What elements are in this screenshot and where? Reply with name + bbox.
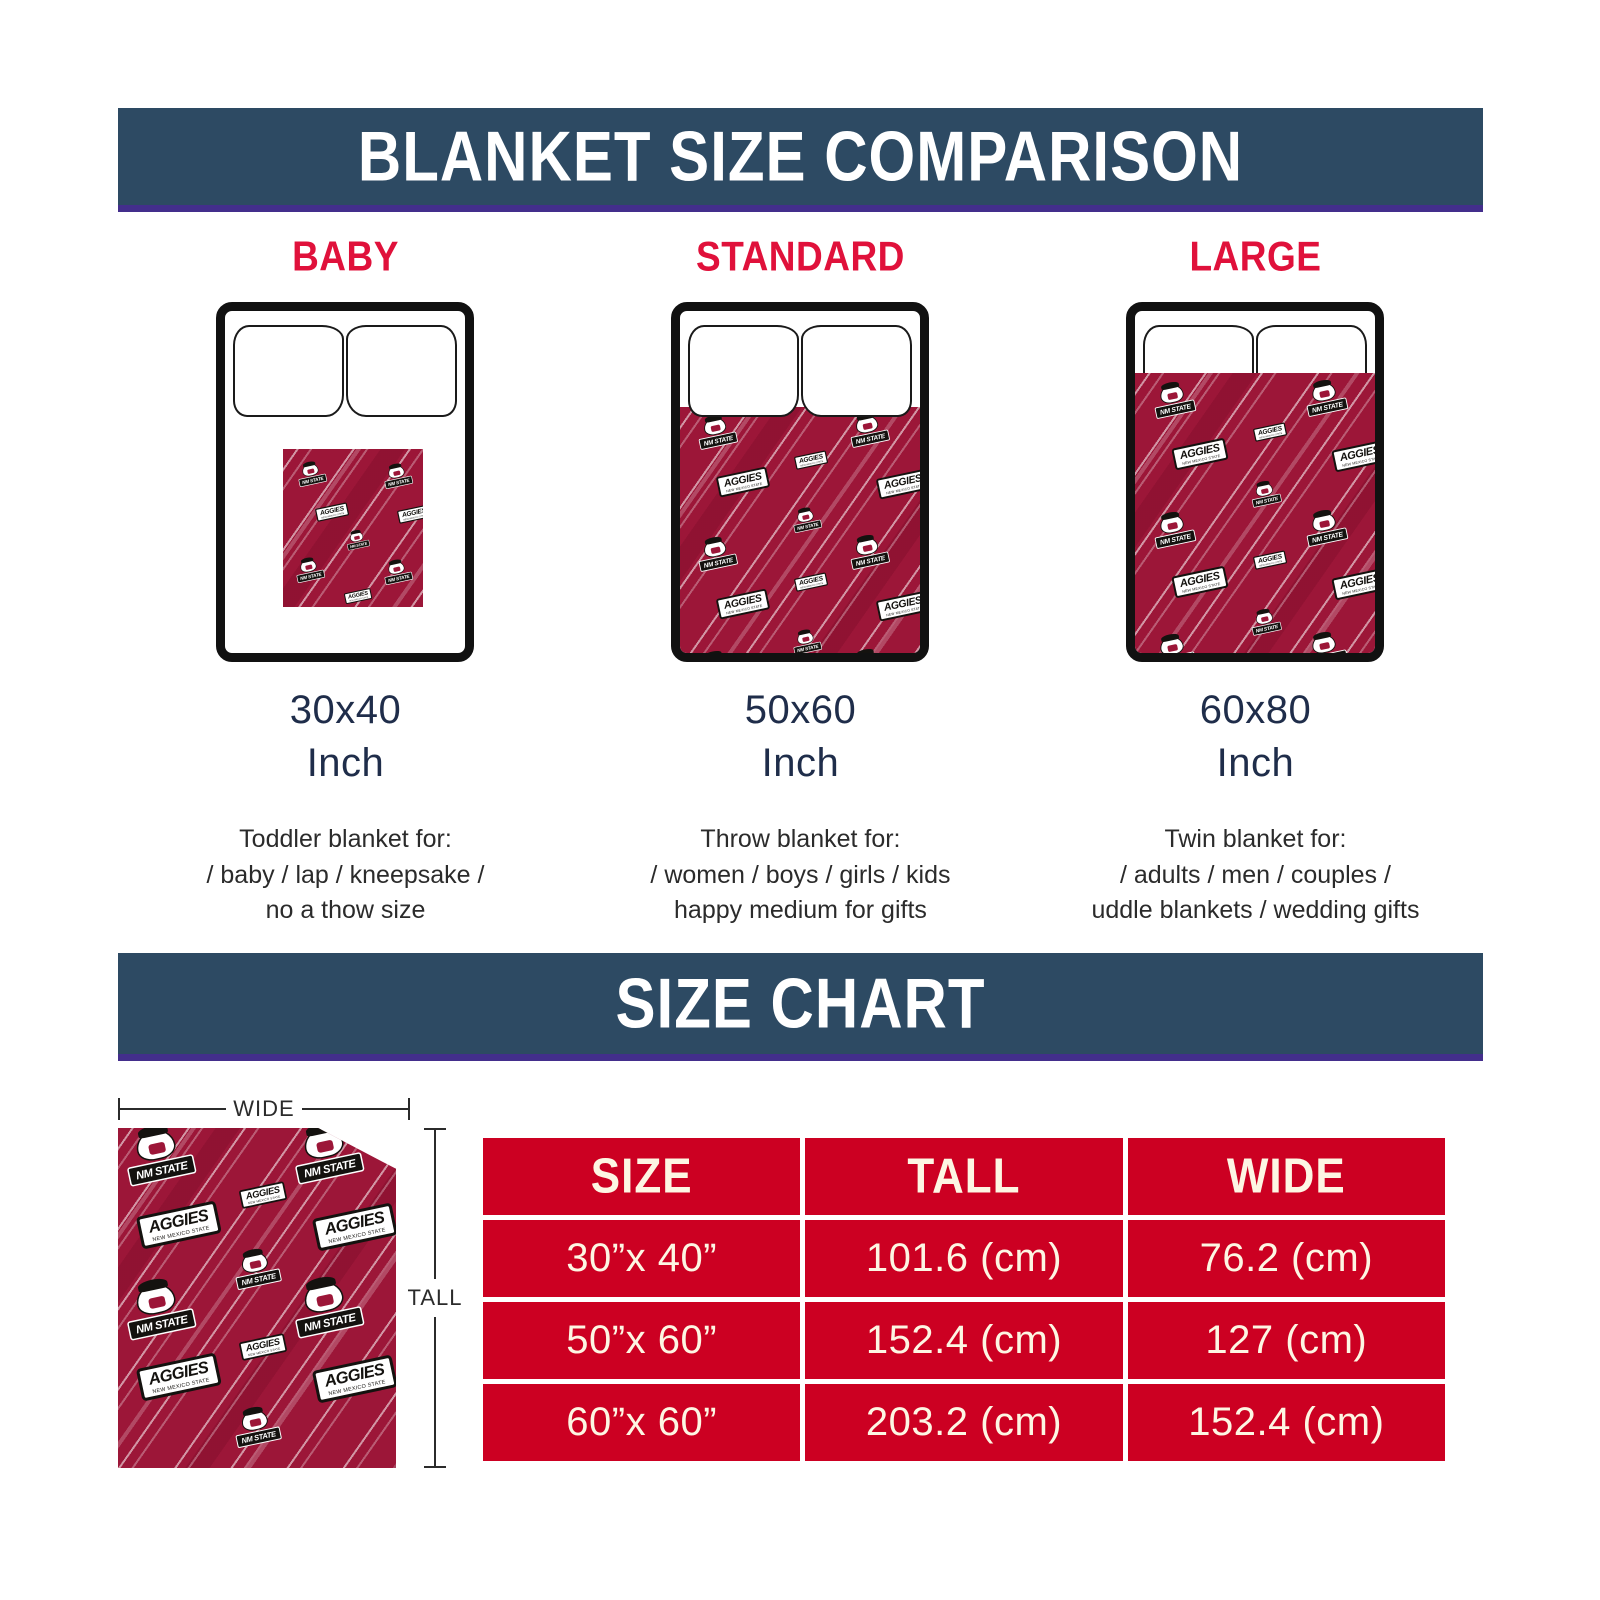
mascot-icon	[240, 1250, 270, 1275]
pillow-right-icon	[346, 325, 457, 417]
dimension-line-icon	[302, 1108, 408, 1110]
pattern-logo-layer: NM STATE NM STATE AGGIES NEW MEXICO STAT…	[680, 407, 920, 653]
column-label-large: LARGE	[1189, 233, 1321, 280]
nm-state-logo-icon: NM STATE	[231, 1248, 282, 1291]
pillows-standard	[688, 325, 912, 417]
description-large: Twin blanket for: / adults / men / coupl…	[1091, 822, 1419, 929]
mascot-icon	[855, 650, 880, 653]
nm-state-logo-icon: NM STATE	[791, 507, 823, 533]
aggies-logo-icon: AGGIES NEW MEXICO STATE	[716, 466, 771, 497]
comparison-column-baby: BABY NM STATE NM STATE AGGIES	[118, 236, 573, 929]
aggies-logo-icon: AGGIES NEW MEXICO STATE	[1172, 566, 1230, 599]
description-standard: Throw blanket for: / women / boys / girl…	[650, 822, 950, 929]
mascot-icon	[388, 560, 406, 575]
nm-state-logo-icon: NM STATE	[1249, 480, 1282, 508]
dimension-line-icon	[120, 1108, 226, 1110]
nm-state-logo-icon: NM STATE	[695, 414, 738, 450]
mascot-icon	[703, 538, 728, 559]
size-unit-standard: Inch	[762, 741, 840, 786]
desc-line: Twin blanket for:	[1091, 822, 1419, 858]
comparison-column-standard: STANDARD NM STATE NM STATE AGG	[573, 236, 1028, 929]
column-label-baby: BABY	[292, 233, 399, 280]
table-row: 30”x 40” 101.6 (cm) 76.2 (cm)	[483, 1220, 1445, 1297]
aggies-logo-icon: AGGIES NEW MEXICO STATE	[1253, 422, 1288, 442]
mascot-icon	[302, 462, 320, 477]
size-value-baby: 30x40	[290, 688, 401, 733]
nm-state-logo-icon: NM STATE	[294, 557, 326, 583]
aggies-logo-icon: AGGIES NEW MEXICO STATE	[876, 468, 920, 499]
aggies-logo-icon: AGGIES NEW MEXICO STATE	[239, 1181, 288, 1209]
aggies-logo-icon: AGGIES NEW MEXICO STATE	[312, 1354, 396, 1404]
mascot-icon	[855, 536, 880, 557]
cell-size: 50”x 60”	[483, 1302, 800, 1379]
desc-line: happy medium for gifts	[650, 893, 950, 929]
blanket-swatch-baby: NM STATE NM STATE AGGIES NEW MEXICO STAT…	[283, 449, 423, 607]
mascot-icon	[1159, 513, 1186, 535]
desc-line: Throw blanket for:	[650, 822, 950, 858]
mascot-icon	[1255, 609, 1274, 625]
mascot-icon	[302, 1278, 346, 1315]
desc-line: uddle blankets / wedding gifts	[1091, 893, 1419, 929]
mascot-icon	[1311, 381, 1338, 403]
nm-state-logo-icon: NM STATE	[345, 529, 370, 550]
nm-state-logo-icon: NM STATE	[1303, 631, 1349, 653]
nm-state-logo-icon: NM STATE	[120, 1128, 196, 1187]
cell-tall: 152.4 (cm)	[805, 1302, 1122, 1379]
size-unit-large: Inch	[1217, 741, 1295, 786]
mascot-icon	[240, 1408, 270, 1433]
nm-state-logo-icon: NM STATE	[1151, 511, 1197, 549]
aggies-logo-icon: AGGIES NEW MEXICO STATE	[344, 588, 373, 605]
nm-state-logo-icon: NM STATE	[1151, 381, 1197, 419]
cell-size: 30”x 40”	[483, 1220, 800, 1297]
mascot-icon	[1311, 633, 1338, 653]
size-comparison-columns: BABY NM STATE NM STATE AGGIES	[118, 236, 1483, 929]
nm-state-logo-icon: NM STATE	[382, 463, 414, 489]
size-unit-baby: Inch	[307, 741, 385, 786]
bed-illustration-baby: NM STATE NM STATE AGGIES NEW MEXICO STAT…	[216, 302, 474, 662]
nm-state-logo-icon: NM STATE	[296, 461, 328, 487]
aggies-logo-icon: AGGIES NEW MEXICO STATE	[794, 572, 829, 592]
pillows-baby	[233, 325, 457, 417]
table-row: 60”x 60” 203.2 (cm) 152.4 (cm)	[483, 1384, 1445, 1461]
nm-state-logo-icon: NM STATE	[1303, 509, 1349, 547]
aggies-logo-icon: AGGIES NEW MEXICO STATE	[716, 588, 771, 619]
dimension-line-icon	[434, 1130, 436, 1279]
dimension-line-icon	[434, 1317, 436, 1466]
nm-state-logo-icon: NM STATE	[695, 536, 738, 572]
page-title: BLANKET SIZE COMPARISON	[358, 116, 1243, 197]
blanket-swatch-standard: NM STATE NM STATE AGGIES NEW MEXICO STAT…	[680, 407, 920, 653]
table-row: 50”x 60” 152.4 (cm) 127 (cm)	[483, 1302, 1445, 1379]
mascot-icon	[703, 652, 728, 653]
size-value-standard: 50x60	[745, 688, 856, 733]
mascot-icon	[302, 1128, 346, 1161]
blanket-swatch-large: NM STATE NM STATE AGGIES NEW MEXICO STAT…	[1135, 373, 1375, 653]
aggies-logo-icon: AGGIES NEW MEXICO STATE	[876, 590, 920, 621]
aggies-logo-icon: AGGIES NEW MEXICO STATE	[1332, 440, 1376, 473]
mascot-icon	[1159, 383, 1186, 405]
blanket-dimension-diagram: WIDE NM STATE NM STATE AGGIES NEW MEXICO…	[118, 1092, 478, 1482]
nm-state-logo-icon: NM STATE	[791, 629, 823, 653]
pattern-logo-layer: NM STATE NM STATE AGGIES NEW MEXICO STAT…	[118, 1128, 396, 1468]
cell-wide: 152.4 (cm)	[1128, 1384, 1445, 1461]
size-chart-title: SIZE CHART	[616, 963, 986, 1044]
bed-illustration-standard: NM STATE NM STATE AGGIES NEW MEXICO STAT…	[671, 302, 929, 662]
cell-wide: 127 (cm)	[1128, 1302, 1445, 1379]
tall-label: TALL	[408, 1279, 463, 1317]
mascot-icon	[703, 416, 728, 437]
cell-tall: 203.2 (cm)	[805, 1384, 1122, 1461]
aggies-logo-icon: AGGIES NEW MEXICO STATE	[794, 450, 829, 470]
aggies-logo-icon: AGGIES NEW MEXICO STATE	[239, 1333, 288, 1361]
mascot-icon	[1159, 635, 1186, 653]
nm-state-logo-icon: NM STATE	[1303, 379, 1349, 417]
dimension-cap-icon	[408, 1098, 410, 1120]
desc-line: Toddler blanket for:	[207, 822, 485, 858]
wide-dimension-line: WIDE	[118, 1092, 410, 1126]
aggies-logo-icon: AGGIES NEW MEXICO STATE	[136, 1200, 223, 1250]
mascot-icon	[1311, 511, 1338, 533]
cell-tall: 101.6 (cm)	[805, 1220, 1122, 1297]
aggies-logo-icon: AGGIES NEW MEXICO STATE	[1172, 438, 1230, 471]
mascot-icon	[797, 508, 815, 523]
nm-state-logo-icon: NM STATE	[120, 1277, 196, 1341]
pillow-left-icon	[233, 325, 344, 417]
table-header-row: SIZE TALL WIDE	[483, 1138, 1445, 1215]
nm-state-logo-icon: NM STATE	[1249, 608, 1282, 636]
mascot-icon	[300, 558, 318, 573]
aggies-logo-icon: AGGIES NEW MEXICO STATE	[312, 1202, 396, 1252]
aggies-logo-icon: AGGIES NEW MEXICO STATE	[1253, 550, 1288, 570]
size-chart-section: WIDE NM STATE NM STATE AGGIES NEW MEXICO…	[0, 1092, 1600, 1492]
desc-line: / adults / men / couples /	[1091, 858, 1419, 894]
aggies-logo-icon: AGGIES NEW MEXICO STATE	[136, 1352, 223, 1402]
mascot-icon	[797, 630, 815, 645]
tall-dimension-line: TALL	[414, 1128, 456, 1468]
nm-state-logo-icon: NM STATE	[847, 648, 890, 653]
table-header-size: SIZE	[483, 1138, 800, 1215]
description-baby: Toddler blanket for: / baby / lap / knee…	[207, 822, 485, 929]
desc-line: / baby / lap / kneepsake /	[207, 858, 485, 894]
pillow-left-icon	[688, 325, 799, 417]
nm-state-logo-icon: NM STATE	[288, 1128, 364, 1185]
wide-label: WIDE	[226, 1096, 301, 1122]
size-value-large: 60x80	[1200, 688, 1311, 733]
mascot-icon	[350, 530, 365, 542]
pattern-logo-layer: NM STATE NM STATE AGGIES NEW MEXICO STAT…	[283, 449, 423, 607]
pattern-logo-layer: NM STATE NM STATE AGGIES NEW MEXICO STAT…	[1135, 373, 1375, 653]
column-label-standard: STANDARD	[696, 233, 905, 280]
mascot-icon	[134, 1280, 178, 1317]
nm-state-logo-icon: NM STATE	[231, 1406, 282, 1449]
blanket-swatch-diagram: NM STATE NM STATE AGGIES NEW MEXICO STAT…	[118, 1128, 396, 1468]
aggies-logo-icon: AGGIES NEW MEXICO STATE	[1332, 568, 1376, 601]
aggies-logo-icon: AGGIES NEW MEXICO STATE	[315, 502, 350, 522]
blanket-size-comparison-banner: BLANKET SIZE COMPARISON	[118, 108, 1483, 212]
size-chart-table: SIZE TALL WIDE 30”x 40” 101.6 (cm) 76.2 …	[483, 1138, 1445, 1461]
table-header-tall: TALL	[805, 1138, 1122, 1215]
aggies-logo-icon: AGGIES NEW MEXICO STATE	[397, 504, 423, 524]
desc-line: / women / boys / girls / kids	[650, 858, 950, 894]
nm-state-logo-icon: NM STATE	[695, 650, 738, 653]
size-chart-banner: SIZE CHART	[118, 953, 1483, 1061]
nm-state-logo-icon: NM STATE	[847, 534, 890, 570]
cell-wide: 76.2 (cm)	[1128, 1220, 1445, 1297]
desc-line: no a thow size	[207, 893, 485, 929]
cell-size: 60”x 60”	[483, 1384, 800, 1461]
mascot-icon	[134, 1128, 178, 1163]
table-header-wide: WIDE	[1128, 1138, 1445, 1215]
nm-state-logo-icon: NM STATE	[847, 412, 890, 448]
dimension-cap-icon	[424, 1466, 446, 1468]
comparison-column-large: LARGE NM STATE NM STATE AGGIES	[1028, 236, 1483, 929]
nm-state-logo-icon: NM STATE	[288, 1275, 364, 1339]
mascot-icon	[1255, 481, 1274, 497]
mascot-icon	[388, 464, 406, 479]
bed-illustration-large: NM STATE NM STATE AGGIES NEW MEXICO STAT…	[1126, 302, 1384, 662]
pillow-right-icon	[801, 325, 912, 417]
nm-state-logo-icon: NM STATE	[382, 559, 414, 585]
nm-state-logo-icon: NM STATE	[1151, 633, 1197, 653]
